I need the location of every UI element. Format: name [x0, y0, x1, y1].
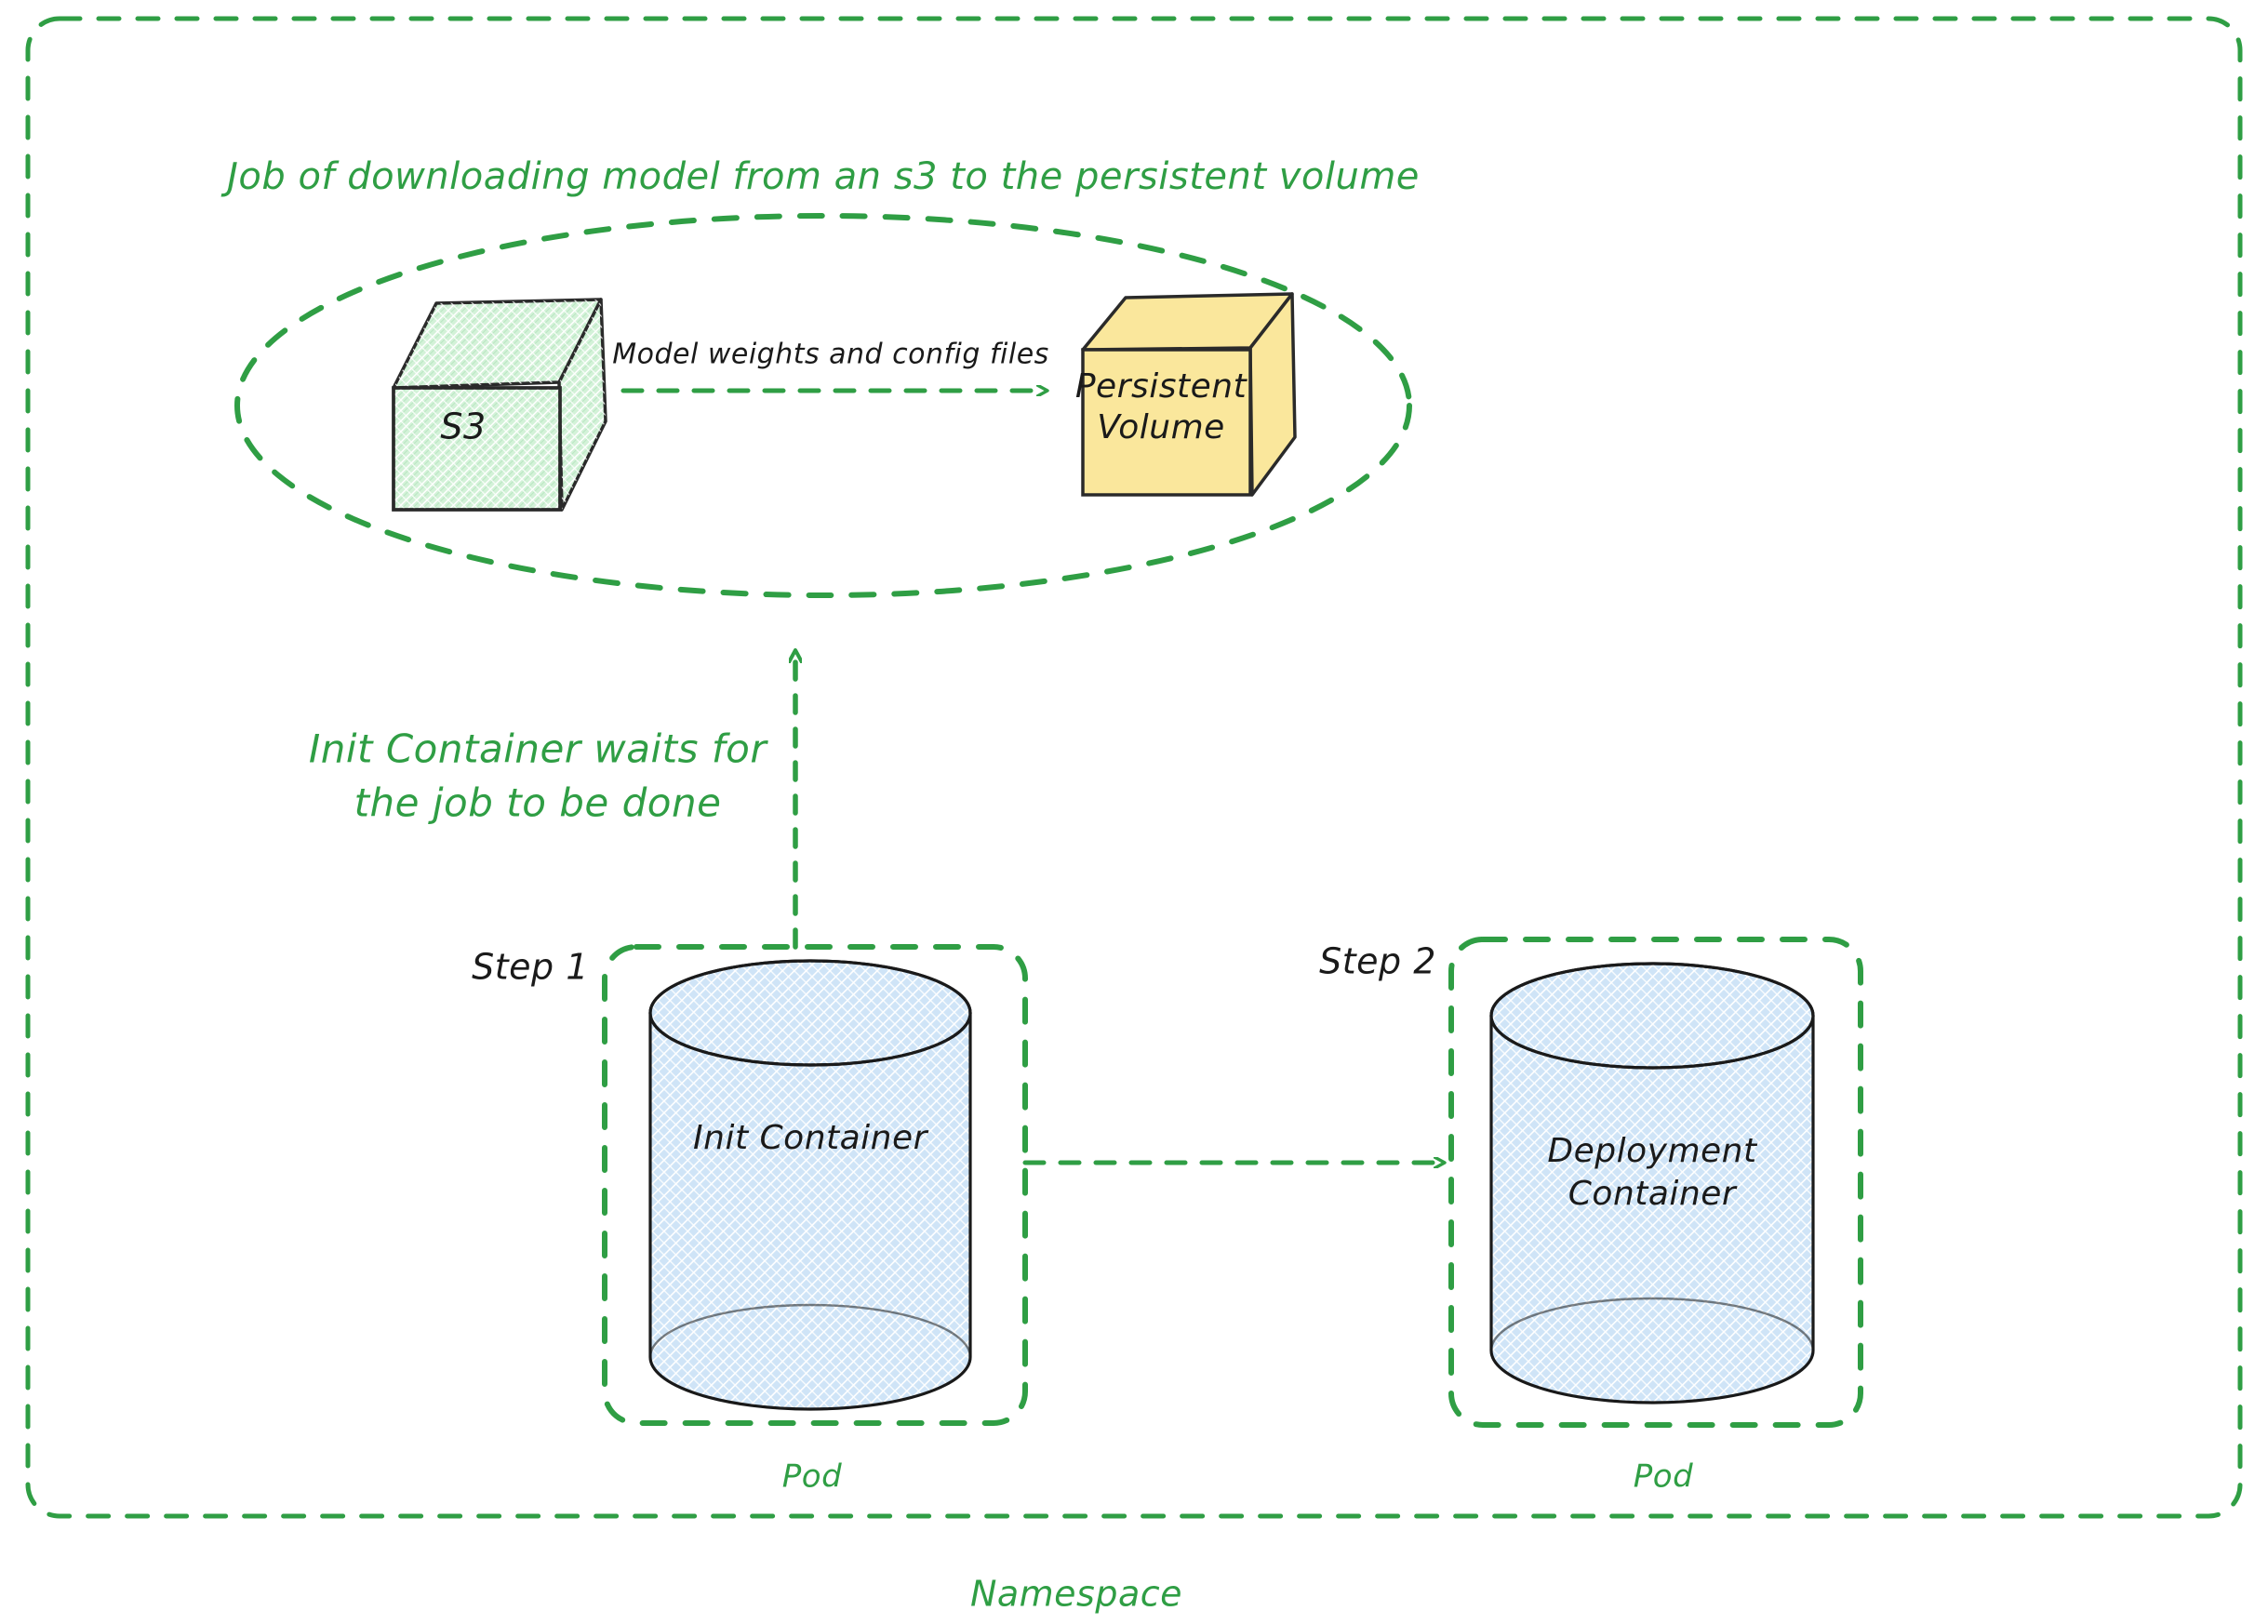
init-container-cylinder: [650, 961, 970, 1409]
edge-label-init-waits-line1: Init Container waits for: [309, 726, 769, 772]
namespace-label: Namespace: [970, 1574, 1182, 1615]
step-2-label: Step 2: [1319, 941, 1436, 982]
persistent-volume-label-line2: Volume: [1097, 408, 1225, 446]
diagram-canvas: Job of downloading model from an s3 to t…: [0, 0, 2268, 1624]
deployment-container-label-line2: Container: [1568, 1175, 1738, 1213]
deployment-container-label-line1: Deployment: [1547, 1132, 1758, 1170]
edge-label-model-weights: Model weights and config files: [612, 339, 1049, 371]
step-1-label: Step 1: [472, 947, 589, 988]
pod-1-label: Pod: [782, 1458, 842, 1496]
s3-label: S3: [440, 406, 486, 447]
diagram-svg: Job of downloading model from an s3 to t…: [0, 0, 2268, 1624]
persistent-volume-label-line1: Persistent: [1075, 367, 1248, 406]
init-container-label: Init Container: [693, 1119, 929, 1157]
job-group-title: Job of downloading model from an s3 to t…: [220, 155, 1420, 198]
pod-2-label: Pod: [1634, 1458, 1693, 1496]
s3-cube: [394, 300, 606, 510]
edge-label-init-waits-line2: the job to be done: [354, 780, 722, 826]
